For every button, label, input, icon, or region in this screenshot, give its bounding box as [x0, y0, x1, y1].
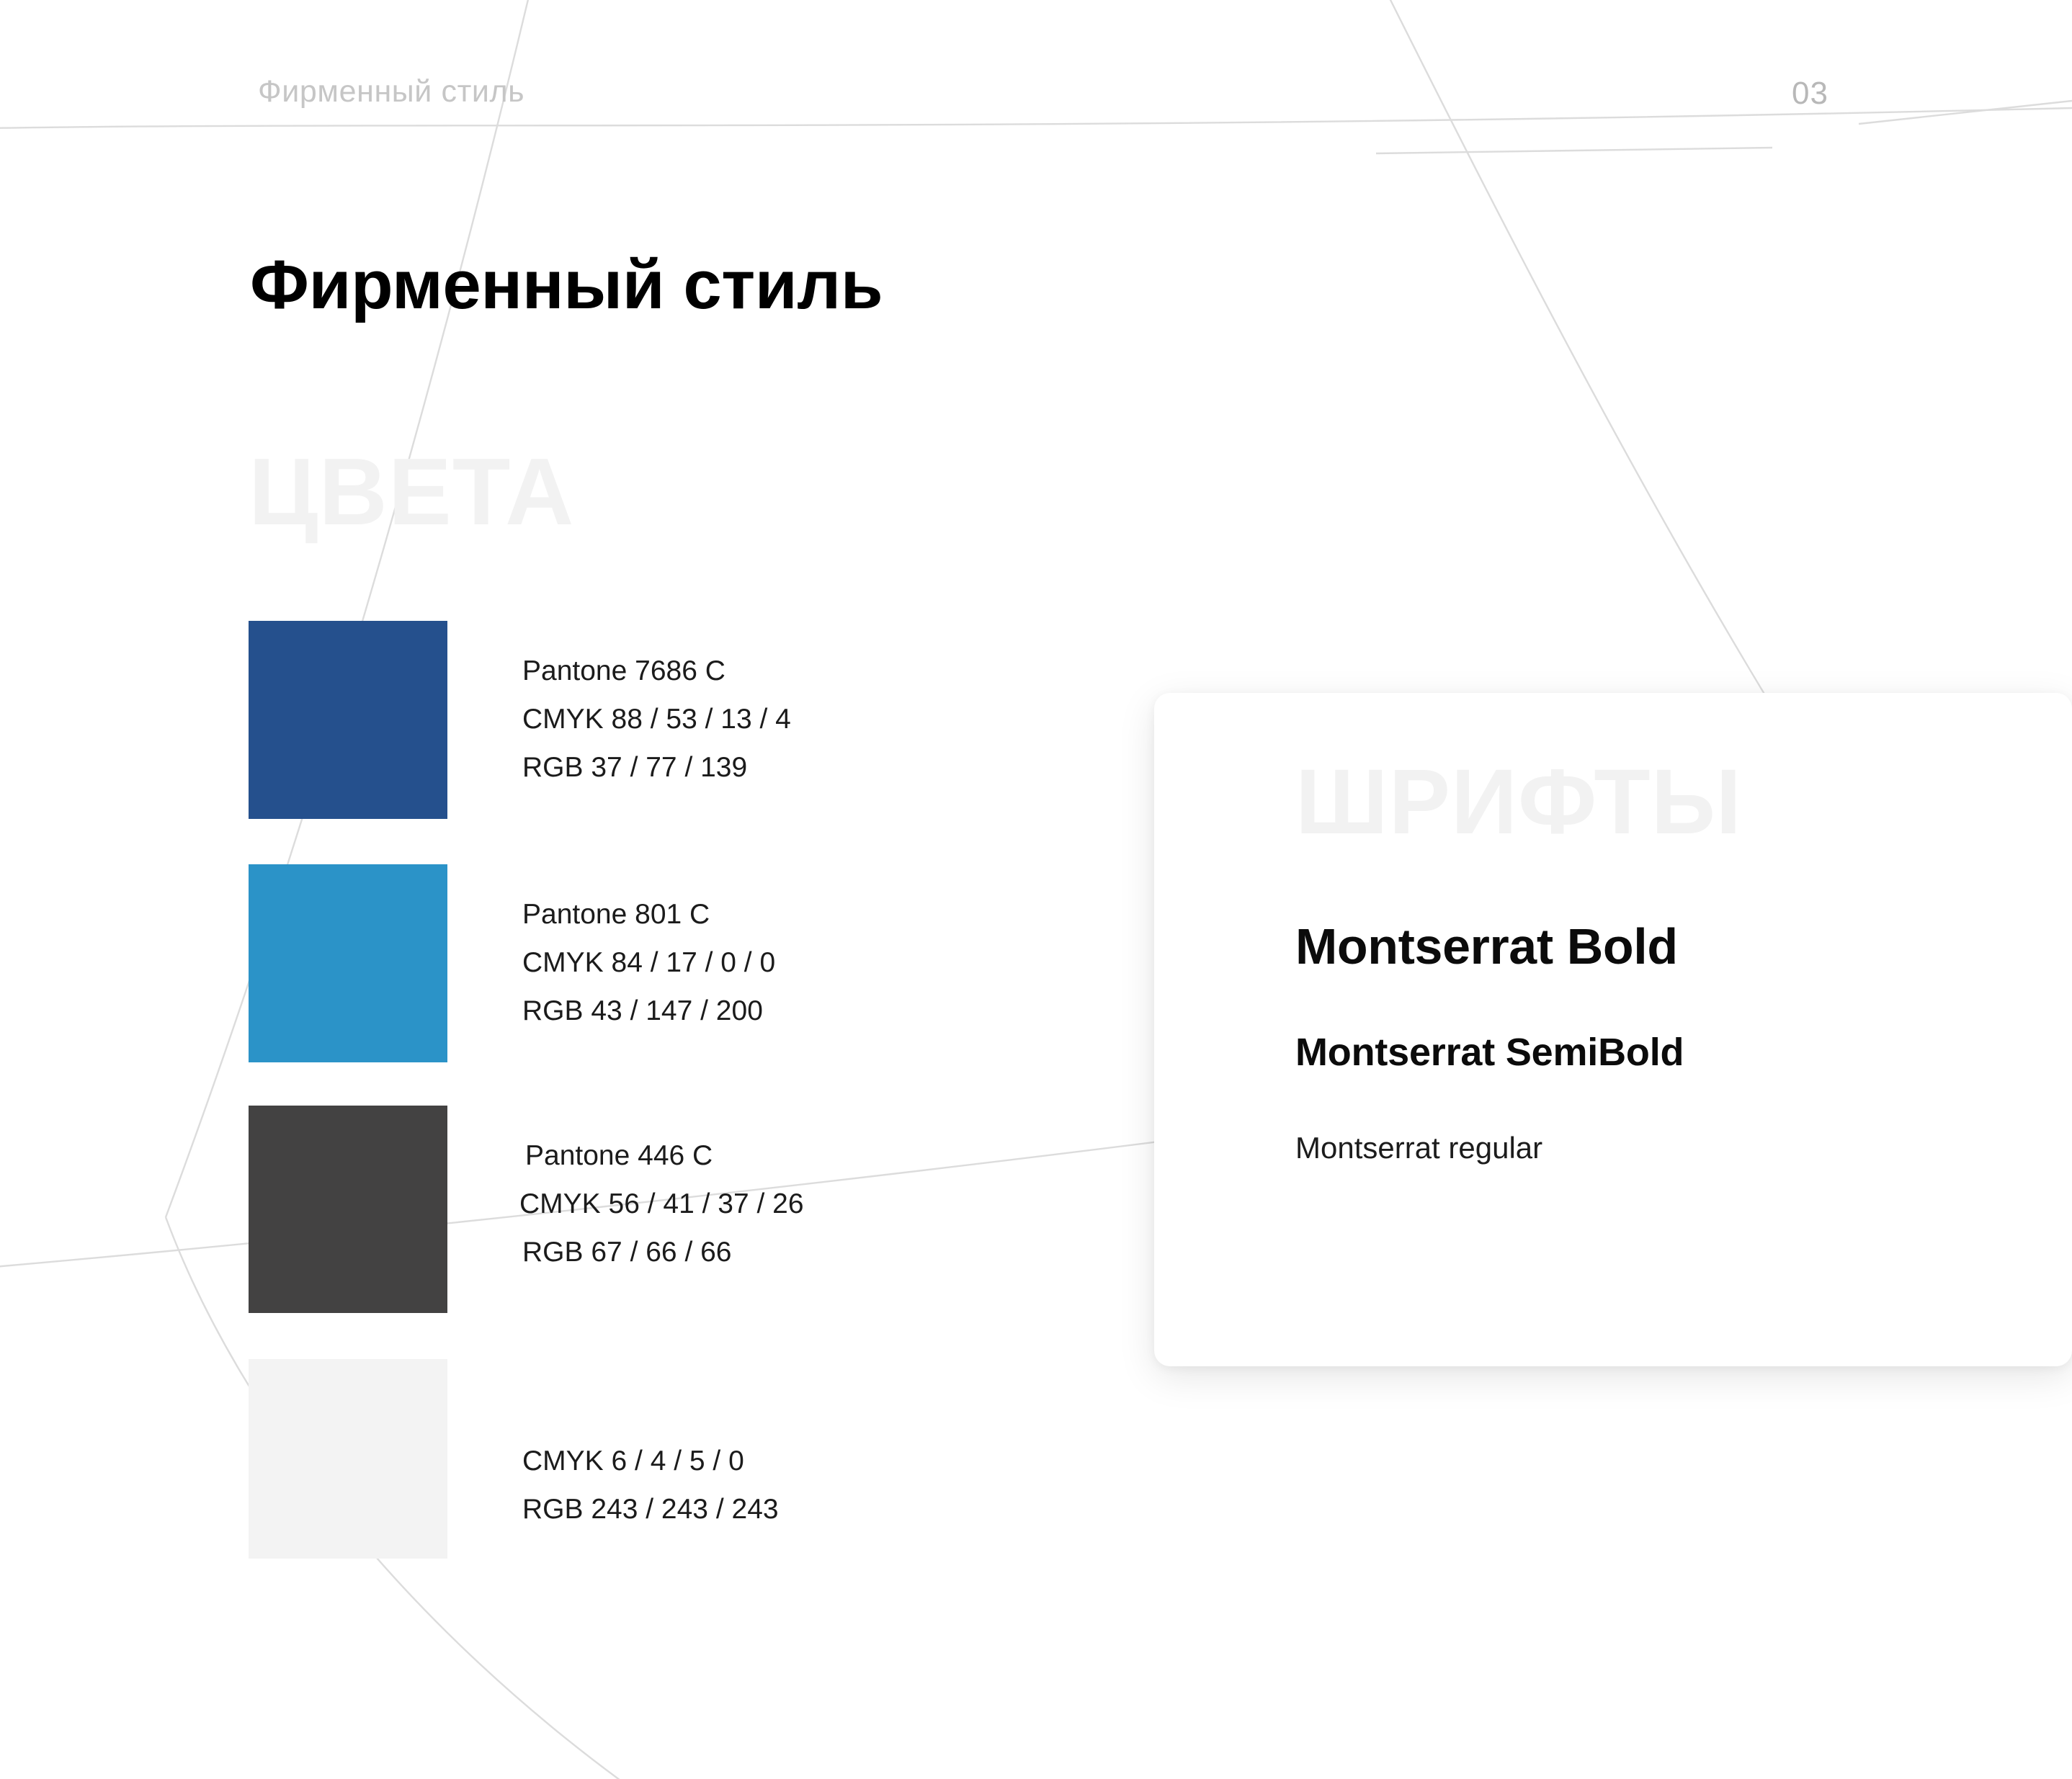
swatch-row: CMYK 6 / 4 / 5 / 0 RGB 243 / 243 / 243: [249, 1359, 1257, 1561]
font-sample-regular: Montserrat regular: [1295, 1131, 1542, 1165]
swatch-row: Pantone 801 C CMYK 84 / 17 / 0 / 0 RGB 4…: [249, 864, 1257, 1106]
swatch-pantone: Pantone 446 C: [525, 1132, 804, 1180]
swatch-rgb: RGB 43 / 147 / 200: [522, 987, 775, 1035]
color-swatch-chip: [249, 1359, 447, 1559]
swatch-cmyk: CMYK 6 / 4 / 5 / 0: [522, 1437, 779, 1485]
swatch-cmyk: CMYK 84 / 17 / 0 / 0: [522, 938, 775, 987]
slide-brand-identity: Фирменный стиль 03 Фирменный стиль ЦВЕТА…: [0, 0, 2072, 1779]
page-title: Фирменный стиль: [250, 246, 883, 325]
swatch-rgb: RGB 37 / 77 / 139: [522, 743, 791, 792]
decor-rule-left-of-page-number: [1376, 148, 1772, 153]
swatch-cmyk: CMYK 56 / 41 / 37 / 26: [519, 1180, 804, 1228]
color-swatch-chip: [249, 621, 447, 819]
colors-section-watermark: ЦВЕТА: [249, 437, 574, 546]
font-sample-semibold: Montserrat SemiBold: [1295, 1030, 1684, 1075]
decor-line-top: [0, 108, 2072, 128]
swatch-row: Pantone 446 C CMYK 56 / 41 / 37 / 26 RGB…: [249, 1106, 1257, 1359]
page-number: 03: [1792, 76, 1828, 112]
fonts-section-watermark: ШРИФТЫ: [1295, 749, 1742, 855]
swatch-pantone: Pantone 7686 C: [522, 647, 791, 695]
fonts-card: ШРИФТЫ Montserrat Bold Montserrat SemiBo…: [1154, 693, 2072, 1366]
color-swatch-info: Pantone 7686 C CMYK 88 / 53 / 13 / 4 RGB…: [522, 647, 791, 792]
swatch-rgb: RGB 67 / 66 / 66: [522, 1228, 804, 1276]
color-swatch-chip: [249, 1106, 447, 1313]
color-swatch-chip: [249, 864, 447, 1062]
decor-rule-right-of-page-number: [1859, 101, 2072, 124]
font-sample-bold: Montserrat Bold: [1295, 918, 1678, 975]
swatch-cmyk: CMYK 88 / 53 / 13 / 4: [522, 695, 791, 743]
swatch-pantone: Pantone 801 C: [522, 890, 775, 938]
swatch-rgb: RGB 243 / 243 / 243: [522, 1485, 779, 1533]
color-swatch-info: CMYK 6 / 4 / 5 / 0 RGB 243 / 243 / 243: [522, 1437, 779, 1533]
running-header-title: Фирменный стиль: [258, 74, 524, 109]
swatch-row: Pantone 7686 C CMYK 88 / 53 / 13 / 4 RGB…: [249, 621, 1257, 864]
color-swatch-info: Pantone 801 C CMYK 84 / 17 / 0 / 0 RGB 4…: [522, 890, 775, 1035]
color-palette: Pantone 7686 C CMYK 88 / 53 / 13 / 4 RGB…: [249, 621, 1257, 1561]
color-swatch-info: Pantone 446 C CMYK 56 / 41 / 37 / 26 RGB…: [525, 1132, 804, 1276]
